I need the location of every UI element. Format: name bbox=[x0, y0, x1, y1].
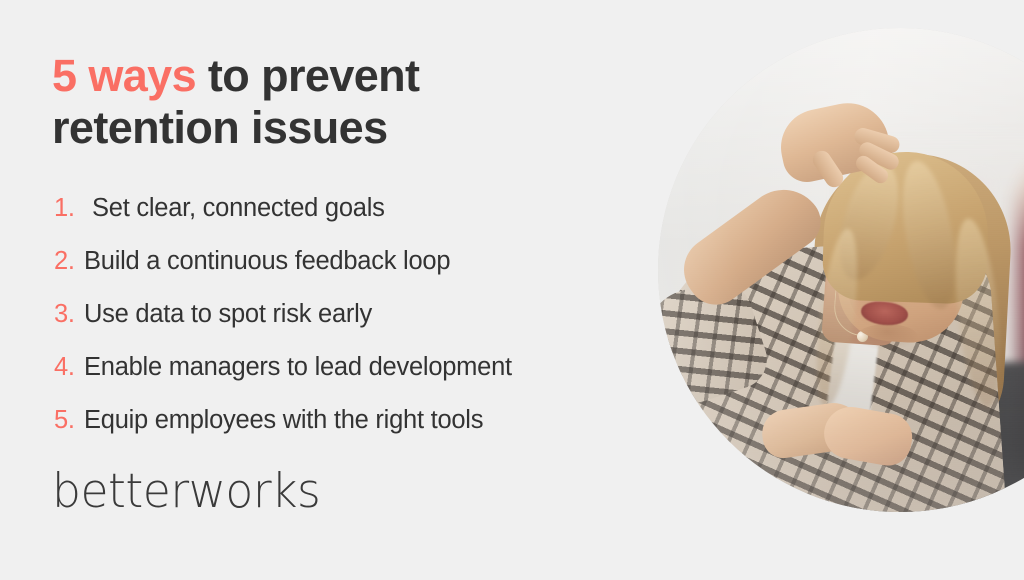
photo-background bbox=[658, 28, 1024, 512]
promo-slide: 5 ways to prevent retention issues 1. Se… bbox=[0, 0, 1024, 580]
list-item: 3. Use data to spot risk early bbox=[54, 288, 654, 341]
list-item-number: 3. bbox=[54, 288, 84, 341]
list-item: 4. Enable managers to lead development bbox=[54, 341, 654, 394]
list-item-label: Use data to spot risk early bbox=[84, 288, 372, 341]
chin-shading bbox=[856, 324, 918, 350]
list-item-number: 5. bbox=[54, 394, 84, 447]
list-item-label: Enable managers to lead development bbox=[84, 341, 512, 394]
page-title: 5 ways to prevent retention issues bbox=[52, 50, 419, 154]
list-item: 5. Equip employees with the right tools bbox=[54, 394, 654, 447]
list-item-label: Build a continuous feedback loop bbox=[84, 235, 450, 288]
list-item-label: Equip employees with the right tools bbox=[84, 394, 483, 447]
list-item-label: Set clear, connected goals bbox=[92, 182, 385, 235]
list-item: 1. Set clear, connected goals bbox=[54, 182, 654, 235]
betterworks-logo: betterworks bbox=[52, 466, 320, 518]
list-item-number: 1. bbox=[54, 182, 92, 235]
list-item: 2. Build a continuous feedback loop bbox=[54, 235, 654, 288]
hero-photo-circle bbox=[658, 28, 1024, 512]
list-item-number: 2. bbox=[54, 235, 84, 288]
headline-accent: 5 ways bbox=[52, 50, 196, 101]
list-item-number: 4. bbox=[54, 341, 84, 394]
text-column: 5 ways to prevent retention issues 1. Se… bbox=[52, 0, 652, 580]
tips-list: 1. Set clear, connected goals 2. Build a… bbox=[54, 182, 654, 447]
